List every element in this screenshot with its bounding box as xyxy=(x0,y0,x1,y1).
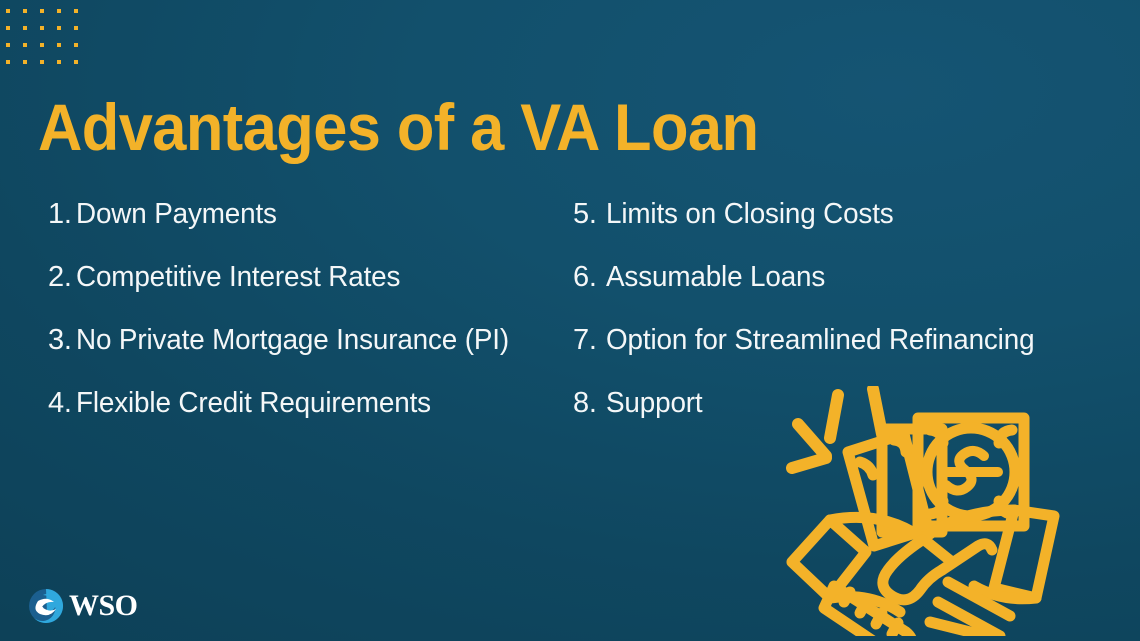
grid-dot xyxy=(23,26,27,30)
grid-dot xyxy=(6,9,10,13)
grid-dot xyxy=(57,43,61,47)
list-item: 1. Down Payments xyxy=(48,200,568,263)
grid-dot xyxy=(40,9,44,13)
list-item: 6. Assumable Loans xyxy=(573,263,1103,326)
grid-dot xyxy=(74,60,78,64)
list-item-number: 2. xyxy=(48,263,72,292)
list-item-label: Competitive Interest Rates xyxy=(76,263,400,292)
dot-grid-decoration xyxy=(6,9,92,79)
grid-dot xyxy=(57,60,61,64)
grid-dot xyxy=(40,26,44,30)
list-item-label: Flexible Credit Requirements xyxy=(76,389,431,418)
list-item-number: 7. xyxy=(573,326,597,355)
page-title: Advantages of a VA Loan xyxy=(38,93,758,162)
grid-dot xyxy=(74,43,78,47)
list-item-label: Option for Streamlined Refinancing xyxy=(606,326,1034,355)
list-column-left: 1. Down Payments 2. Competitive Interest… xyxy=(48,200,568,452)
grid-dot xyxy=(40,60,44,64)
burst-lines-icon xyxy=(792,389,882,468)
list-item: 4. Flexible Credit Requirements xyxy=(48,389,568,452)
grid-dot xyxy=(23,9,27,13)
list-item-label: Assumable Loans xyxy=(606,263,825,292)
list-item-label: No Private Mortgage Insurance (PI) xyxy=(76,326,509,355)
wso-swirl-mark-icon xyxy=(28,588,64,624)
list-item-number: 6. xyxy=(573,263,597,292)
list-item-label: Limits on Closing Costs xyxy=(606,200,894,229)
list-item: 3. No Private Mortgage Insurance (PI) xyxy=(48,326,568,389)
grid-dot xyxy=(57,26,61,30)
list-item-number: 5. xyxy=(573,200,597,229)
grid-dot xyxy=(23,43,27,47)
list-item: 5. Limits on Closing Costs xyxy=(573,200,1103,263)
list-item-number: 4. xyxy=(48,389,72,418)
list-item: 7. Option for Streamlined Refinancing xyxy=(573,326,1103,389)
grid-dot xyxy=(23,60,27,64)
list-item-number: 3. xyxy=(48,326,72,355)
grid-dot xyxy=(6,60,10,64)
list-item: 2. Competitive Interest Rates xyxy=(48,263,568,326)
slide-canvas: Advantages of a VA Loan 1. Down Payments… xyxy=(0,0,1140,641)
grid-dot xyxy=(40,43,44,47)
grid-dot xyxy=(74,26,78,30)
wso-logo[interactable]: WSO xyxy=(28,586,138,626)
list-item-number: 8. xyxy=(573,389,597,418)
money-handshake-icon xyxy=(778,386,1066,636)
grid-dot xyxy=(6,43,10,47)
grid-dot xyxy=(74,9,78,13)
wso-logo-text: WSO xyxy=(69,591,138,621)
list-item-label: Down Payments xyxy=(76,200,277,229)
grid-dot xyxy=(57,9,61,13)
list-item-number: 1. xyxy=(48,200,72,229)
grid-dot xyxy=(6,26,10,30)
list-item-label: Support xyxy=(606,389,703,418)
